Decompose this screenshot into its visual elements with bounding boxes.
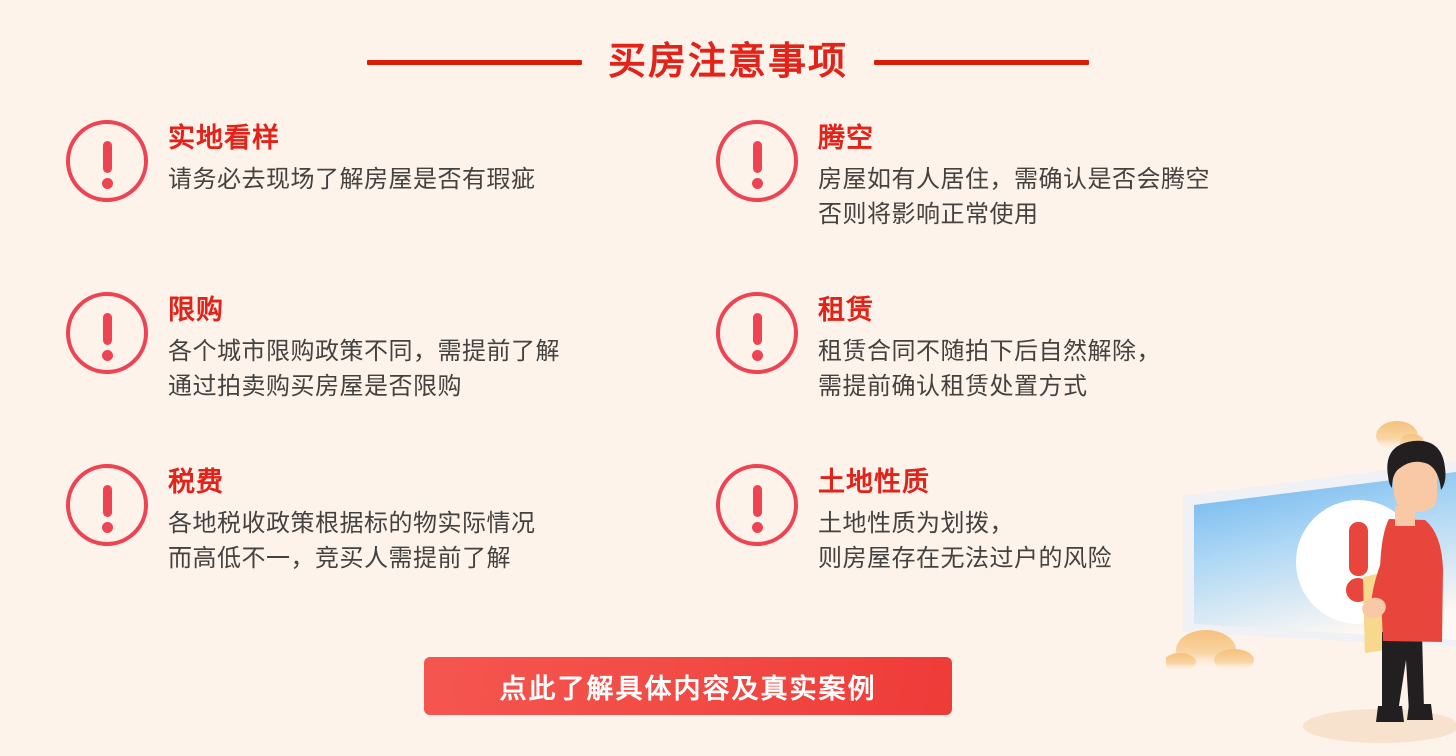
notice-item-line: 而高低不一，竞买人需提前了解 xyxy=(168,542,536,577)
exclamation-circle-icon xyxy=(66,464,148,546)
notice-item-text: 限购 各个城市限购政策不同，需提前了解 通过拍卖购买房屋是否限购 xyxy=(168,292,560,405)
notice-item-text: 租赁 租赁合同不随拍下后自然解除， 需提前确认租赁处置方式 xyxy=(818,292,1161,405)
notice-item: 实地看样 请务必去现场了解房屋是否有瑕疵 xyxy=(66,120,536,202)
notice-item-text: 税费 各地税收政策根据标的物实际情况 而高低不一，竞买人需提前了解 xyxy=(168,464,536,577)
page-title: 买房注意事项 xyxy=(608,43,848,81)
notice-item: 腾空 房屋如有人居住，需确认是否会腾空 否则将影响正常使用 xyxy=(716,120,1210,233)
notice-item-line: 土地性质为划拨， xyxy=(818,507,1112,542)
poster-header: 买房注意事项 xyxy=(0,30,1456,94)
notice-item: 土地性质 土地性质为划拨， 则房屋存在无法过户的风险 xyxy=(716,464,1112,577)
promo-poster: 买房注意事项 实地看样 请务必去现场了解房屋是否有瑕疵 限购 xyxy=(0,0,1456,756)
exclamation-circle-icon xyxy=(716,292,798,374)
exclamation-circle-icon xyxy=(66,292,148,374)
notice-item: 租赁 租赁合同不随拍下后自然解除， 需提前确认租赁处置方式 xyxy=(716,292,1161,405)
exclamation-circle-icon xyxy=(716,120,798,202)
notice-item: 税费 各地税收政策根据标的物实际情况 而高低不一，竞买人需提前了解 xyxy=(66,464,536,577)
title-rule-left xyxy=(367,60,582,65)
notice-item-line: 请务必去现场了解房屋是否有瑕疵 xyxy=(168,163,536,198)
notice-item-line: 租赁合同不随拍下后自然解除， xyxy=(818,335,1161,370)
notice-item-line: 需提前确认租赁处置方式 xyxy=(818,370,1161,405)
notice-item-line: 房屋如有人居住，需确认是否会腾空 xyxy=(818,163,1210,198)
notice-item-title: 腾空 xyxy=(818,122,1210,154)
notice-item-title: 土地性质 xyxy=(818,466,1112,498)
exclamation-circle-icon xyxy=(66,120,148,202)
notice-item-line: 各个城市限购政策不同，需提前了解 xyxy=(168,335,560,370)
figure-shadow xyxy=(1303,709,1456,743)
exclamation-circle-icon xyxy=(716,464,798,546)
notice-item-title: 限购 xyxy=(168,294,560,326)
notice-item-text: 实地看样 请务必去现场了解房屋是否有瑕疵 xyxy=(168,120,536,198)
notice-item-line: 通过拍卖购买房屋是否限购 xyxy=(168,370,560,405)
notice-item-title: 税费 xyxy=(168,466,536,498)
notice-item-line: 则房屋存在无法过户的风险 xyxy=(818,542,1112,577)
notice-item-title: 实地看样 xyxy=(168,122,536,154)
notice-item-line: 各地税收政策根据标的物实际情况 xyxy=(168,507,536,542)
notice-item-text: 土地性质 土地性质为划拨， 则房屋存在无法过户的风险 xyxy=(818,464,1112,577)
title-rule-right xyxy=(874,60,1089,65)
notice-item-line: 否则将影响正常使用 xyxy=(818,198,1210,233)
notice-item-text: 腾空 房屋如有人居住，需确认是否会腾空 否则将影响正常使用 xyxy=(818,120,1210,233)
cta-button[interactable]: 点此了解具体内容及真实案例 xyxy=(424,657,952,715)
cloud-icon-large xyxy=(1166,630,1254,671)
notice-item-title: 租赁 xyxy=(818,294,1161,326)
notice-grid: 实地看样 请务必去现场了解房屋是否有瑕疵 限购 各个城市限购政策不同，需提前了解… xyxy=(0,112,1456,622)
notice-item: 限购 各个城市限购政策不同，需提前了解 通过拍卖购买房屋是否限购 xyxy=(66,292,560,405)
